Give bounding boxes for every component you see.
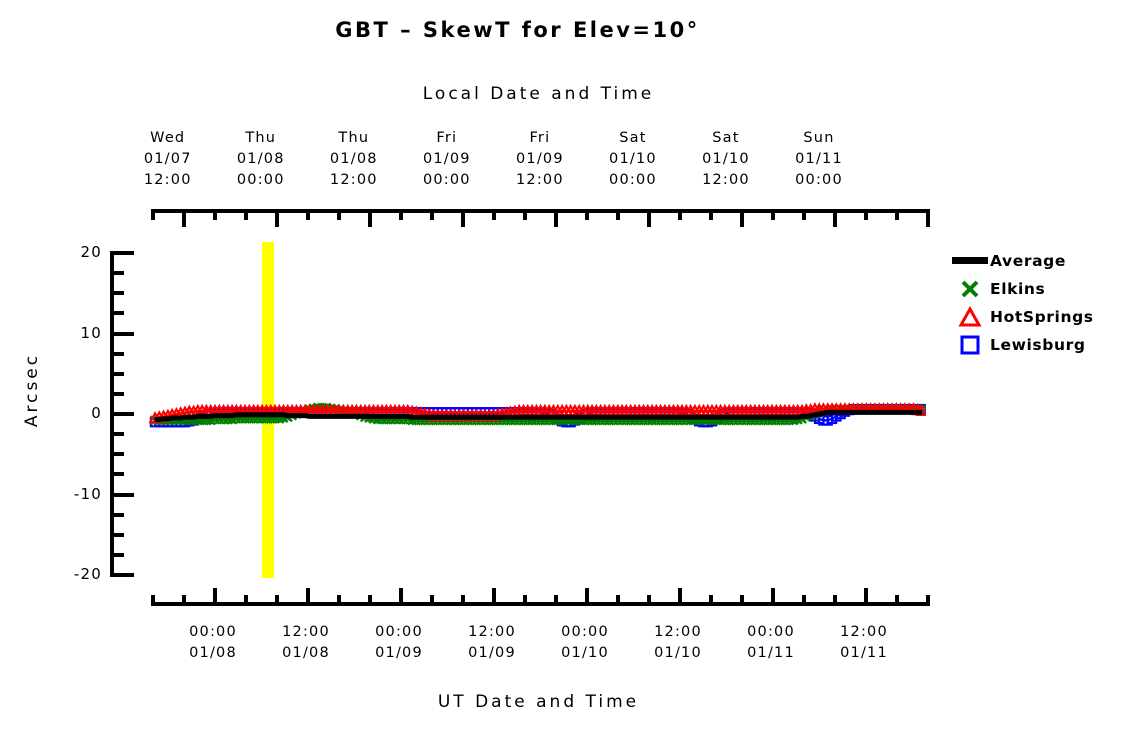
bottom-axis-minor-tick [244, 595, 248, 606]
top-axis-minor-tick [709, 209, 713, 220]
page-title: GBT – SkewT for Elev=10° [0, 18, 1035, 42]
bottom-axis-major-tick [213, 588, 217, 606]
top-axis-minor-tick [337, 209, 341, 220]
bottom-axis-minor-tick [740, 595, 744, 606]
legend: AverageElkinsHotSpringsLewisburg [950, 248, 1125, 360]
top-axis-major-tick [833, 209, 837, 227]
bottom-axis-minor-tick [275, 595, 279, 606]
line-marker-icon [950, 252, 990, 270]
bottom-axis-major-tick [492, 588, 496, 606]
y-axis-tick-label: -20 [42, 565, 102, 583]
triangle-marker-icon [950, 305, 990, 329]
top-axis-minor-tick [151, 209, 155, 220]
top-axis-minor-tick [523, 209, 527, 220]
bottom-axis-minor-tick [895, 595, 899, 606]
bottom-axis-minor-tick [709, 595, 713, 606]
bottom-axis-title: UT Date and Time [151, 692, 926, 712]
bottom-axis-minor-tick [802, 595, 806, 606]
y-axis-tick-label: 20 [42, 243, 102, 261]
square-marker-icon [950, 333, 990, 357]
top-axis-major-tick [647, 209, 651, 227]
bottom-axis-minor-tick [368, 595, 372, 606]
bottom-axis-major-tick [585, 588, 589, 606]
top-axis-major-tick [275, 209, 279, 227]
y-axis-tick-label: 0 [42, 404, 102, 422]
bottom-axis-minor-tick [461, 595, 465, 606]
bottom-axis-minor-tick [833, 595, 837, 606]
bottom-tick-date: 01/11 [804, 643, 924, 664]
bottom-axis-major-tick [306, 588, 310, 606]
top-axis-line [151, 209, 926, 213]
top-axis-minor-tick [244, 209, 248, 220]
top-axis-minor-tick [430, 209, 434, 220]
top-axis-minor-tick [802, 209, 806, 220]
bottom-axis-minor-tick [523, 595, 527, 606]
series-canvas [114, 253, 926, 575]
top-axis-minor-tick [678, 209, 682, 220]
top-axis-major-tick [554, 209, 558, 227]
bottom-axis-minor-tick [151, 595, 155, 606]
bottom-axis-minor-tick [182, 595, 186, 606]
top-axis-minor-tick [585, 209, 589, 220]
top-axis-major-tick [461, 209, 465, 227]
top-tick-date: 01/11 [759, 149, 879, 170]
legend-item-label: HotSprings [990, 308, 1094, 326]
top-axis-major-tick [368, 209, 372, 227]
top-tick-time: 00:00 [759, 170, 879, 191]
bottom-axis-tick-label: 12:0001/11 [804, 622, 924, 664]
x-marker-icon [950, 277, 990, 301]
bottom-tick-time: 12:00 [804, 622, 924, 643]
top-axis-major-tick [926, 209, 930, 227]
bottom-axis-major-tick [864, 588, 868, 606]
top-axis-minor-tick [213, 209, 217, 220]
bottom-axis-line [151, 602, 926, 606]
top-axis-minor-tick [306, 209, 310, 220]
y-axis-tick-label: -10 [42, 485, 102, 503]
legend-item-elkins[interactable]: Elkins [950, 276, 1125, 302]
legend-item-label: Average [990, 252, 1066, 270]
top-axis-minor-tick [399, 209, 403, 220]
bottom-axis-minor-tick [647, 595, 651, 606]
bottom-axis-minor-tick [926, 595, 930, 606]
legend-item-label: Lewisburg [990, 336, 1086, 354]
top-axis-title: Local Date and Time [151, 84, 926, 104]
top-axis-minor-tick [771, 209, 775, 220]
bottom-axis-major-tick [678, 588, 682, 606]
legend-item-lewisburg[interactable]: Lewisburg [950, 332, 1125, 358]
bottom-axis-minor-tick [337, 595, 341, 606]
top-axis-minor-tick [895, 209, 899, 220]
top-axis-minor-tick [864, 209, 868, 220]
y-axis-tick-label: 10 [42, 324, 102, 342]
bottom-axis-minor-tick [430, 595, 434, 606]
top-tick-weekday: Sun [759, 128, 879, 149]
top-axis-tick-label: Sun01/1100:00 [759, 128, 879, 191]
plot-area [114, 253, 926, 575]
top-axis-minor-tick [492, 209, 496, 220]
legend-item-hotsprings[interactable]: HotSprings [950, 304, 1125, 330]
bottom-axis-major-tick [771, 588, 775, 606]
legend-item-average[interactable]: Average [950, 248, 1125, 274]
bottom-axis-minor-tick [616, 595, 620, 606]
top-axis-major-tick [182, 209, 186, 227]
y-axis-title: Arcsec [22, 330, 42, 450]
bottom-axis-major-tick [399, 588, 403, 606]
top-axis-minor-tick [616, 209, 620, 220]
top-axis-major-tick [740, 209, 744, 227]
bottom-axis-minor-tick [554, 595, 558, 606]
legend-item-label: Elkins [990, 280, 1045, 298]
